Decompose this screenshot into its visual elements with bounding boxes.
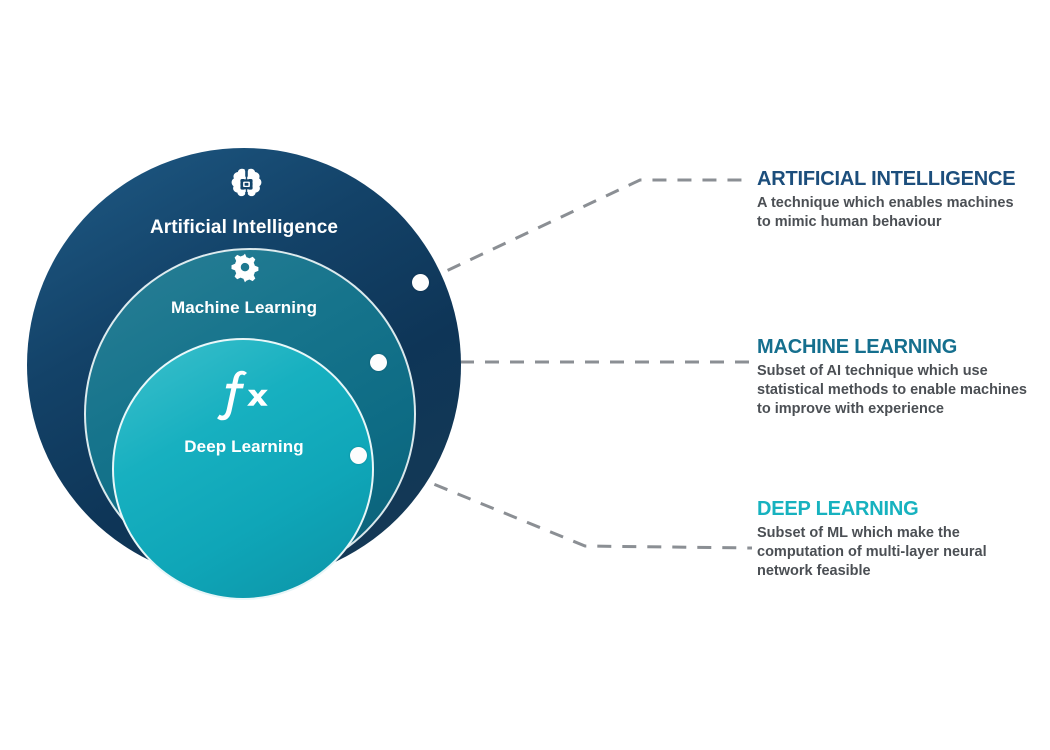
connector-dot-deep-learning[interactable] (350, 447, 367, 464)
connector-dot-machine-learning[interactable] (370, 354, 387, 371)
callout-body-machine-learning: Subset of AI technique which use statist… (757, 362, 1050, 419)
gear-icon (230, 253, 260, 283)
circle-label-deep-learning: Deep Learning (0, 437, 488, 457)
callout-title-deep-learning: DEEP LEARNING (757, 498, 1050, 520)
circle-label-artificial-intelligence: Artificial Intelligence (0, 217, 488, 239)
callout-deep-learning: DEEP LEARNING Subset of ML which make th… (757, 498, 1050, 581)
callout-artificial-intelligence: ARTIFICIAL INTELLIGENCE A technique whic… (757, 168, 1050, 232)
diagram-canvas: Artificial Intelligence Machine Learning… (0, 0, 1050, 750)
callout-title-artificial-intelligence: ARTIFICIAL INTELLIGENCE (757, 168, 1050, 190)
brain-chip-icon (228, 168, 265, 200)
callout-body-deep-learning: Subset of ML which make the computation … (757, 524, 1050, 581)
circle-label-machine-learning: Machine Learning (0, 298, 488, 318)
function-fx-icon (214, 368, 274, 426)
callout-title-machine-learning: MACHINE LEARNING (757, 336, 1050, 358)
callout-machine-learning: MACHINE LEARNING Subset of AI technique … (757, 336, 1050, 419)
connector-dot-artificial-intelligence[interactable] (412, 274, 429, 291)
callout-body-artificial-intelligence: A technique which enables machines to mi… (757, 194, 1050, 232)
